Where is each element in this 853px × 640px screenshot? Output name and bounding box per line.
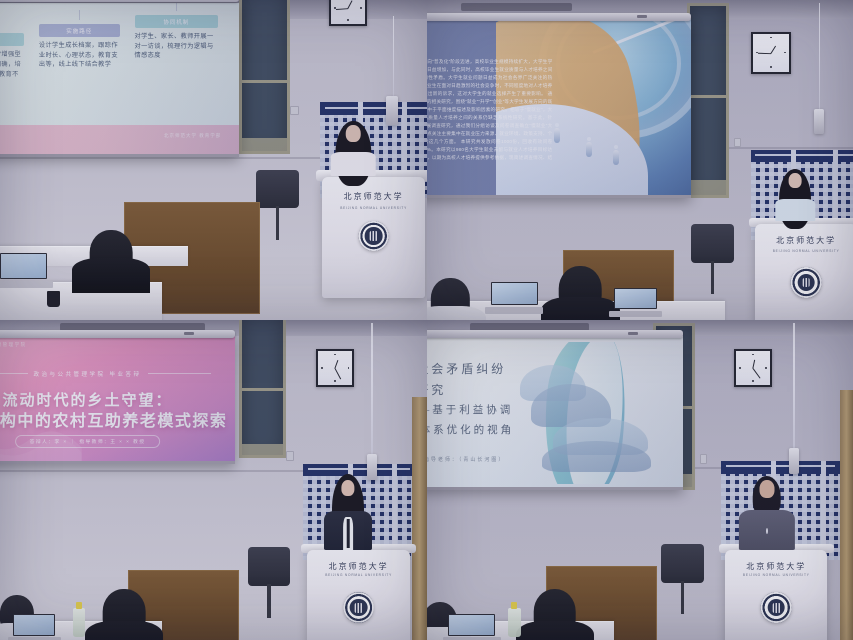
laptop[interactable]	[13, 614, 56, 640]
slide-title-line2: 治理研究	[427, 381, 446, 398]
wall-switch[interactable]	[286, 451, 294, 461]
slide-title-line3: ——基于利益协调	[427, 402, 513, 417]
projector-control-box[interactable]	[367, 454, 377, 480]
podium-label-en: BEIJING NORMAL UNIVERSITY	[307, 573, 409, 577]
door-frame	[840, 390, 853, 640]
slide-card-3: 协同机制 对学生、家长、教师开展一对一访谈，梳理行为逻辑与情感态度	[135, 15, 219, 61]
audience-member	[559, 266, 602, 317]
slide-eyebrow: 政治与公共管理学院 毕业答辩	[34, 370, 142, 378]
podium-label-en: BEIJING NORMAL UNIVERSITY	[755, 249, 853, 253]
panel-top-left[interactable]: 目标定位 推行广泛应用规模“增强型模式”，要求学生明确，培养及时，落实及，教育不…	[0, 0, 427, 320]
laptop[interactable]	[614, 288, 657, 317]
screen-housing	[427, 330, 683, 338]
cup	[47, 291, 60, 307]
slide-card-1: 目标定位 推行广泛应用规模“增强型模式”，要求学生明确，培养及时，落实及，教育不…	[0, 33, 24, 88]
laptop[interactable]	[491, 282, 538, 314]
screen-housing	[0, 330, 235, 338]
podium-label-cn: 北京师范大学	[322, 191, 424, 202]
wall-switch[interactable]	[734, 138, 742, 148]
projection-screen[interactable]: 农村社会矛盾纠纷 治理研究 ——基于利益协调 治理体系优化的视角 答辩人： 指导…	[427, 336, 683, 490]
slide-title-line1: 农村社会矛盾纠纷	[427, 360, 506, 377]
hanging-cable	[371, 323, 372, 457]
hanging-cable	[393, 16, 394, 99]
wall-clock	[329, 0, 367, 26]
projection-screen[interactable]: 北京师范大学 · 政府管理学院 政治与公共管理学院 毕业答辩 流动时代的乡土守望…	[0, 336, 235, 464]
water-bottle	[508, 608, 521, 637]
wall-clock	[751, 32, 791, 74]
presenter[interactable]	[755, 480, 778, 550]
laptop[interactable]	[448, 614, 495, 640]
podium-label-cn: 北京师范大学	[307, 561, 409, 572]
audience-member	[90, 230, 133, 275]
office-chair[interactable]	[661, 544, 704, 614]
slide-card-1-title: 目标定位	[0, 33, 24, 46]
slide-wave-decoration	[0, 419, 82, 462]
panel-bottom-left[interactable]: 北京师范大学 · 政府管理学院 政治与公共管理学院 毕业答辩 流动时代的乡土守望…	[0, 320, 427, 640]
wall-clock	[734, 349, 772, 387]
podium[interactable]: 北京师范大学 BEIJING NORMAL UNIVERSITY	[755, 218, 853, 320]
bnu-emblem-icon	[791, 267, 822, 298]
slide-ink-illustration	[512, 342, 682, 484]
projection-screen[interactable]: 引言 随着我国高等教育向“普及化”阶段迈进，高校毕业生规模持续扩大，大学生学术科…	[427, 19, 691, 198]
podium-label-en: BEIJING NORMAL UNIVERSITY	[725, 573, 827, 577]
slide-card-2: 实施路径 设计学生成长档案，跟踪作业时长、心理状态，教育支出等，线上线下结合教学	[39, 24, 120, 70]
audience-member	[102, 589, 145, 640]
presenter[interactable]	[785, 173, 806, 221]
wall-clock	[316, 349, 354, 387]
slide-eyebrow-rule: 政治与公共管理学院 毕业答辩	[0, 370, 211, 378]
podium[interactable]: 北京师范大学 BEIJING NORMAL UNIVERSITY	[725, 544, 827, 640]
audience-member	[431, 278, 469, 320]
slide-card-3-title: 协同机制	[135, 15, 219, 28]
ceiling-duct	[461, 3, 572, 11]
podium-label-cn: 北京师范大学	[725, 561, 827, 572]
presenter[interactable]	[342, 125, 365, 176]
wall-switch[interactable]	[290, 106, 299, 116]
slide-brandline: 北京师范大学 · 政府管理学院	[0, 342, 27, 348]
podium-label-cn: 北京师范大学	[755, 235, 853, 246]
laptop[interactable]	[0, 253, 47, 288]
classroom-blackboard	[687, 3, 730, 198]
projector-control-box[interactable]	[386, 96, 397, 125]
classroom-blackboard	[239, 320, 286, 458]
bnu-emblem-icon	[343, 592, 374, 623]
office-chair[interactable]	[248, 547, 291, 617]
hanging-cable	[819, 3, 820, 112]
bnu-emblem-icon	[358, 221, 389, 252]
audience-member	[534, 589, 577, 640]
slide-card-2-title: 实施路径	[39, 24, 120, 37]
photo-collage-grid: 目标定位 推行广泛应用规模“增强型模式”，要求学生明确，培养及时，落实及，教育不…	[0, 0, 853, 640]
wall-switch[interactable]	[700, 454, 708, 464]
screen-housing	[0, 0, 239, 2]
slide-paragraph: 随着我国高等教育向“普及化”阶段迈进，高校毕业生规模持续扩大，大学生学术科研及就…	[427, 58, 552, 170]
panel-bottom-right[interactable]: 农村社会矛盾纠纷 治理研究 ——基于利益协调 治理体系优化的视角 答辩人： 指导…	[427, 320, 853, 640]
office-chair[interactable]	[691, 224, 734, 294]
water-bottle	[73, 608, 86, 637]
hanging-cable	[793, 323, 794, 451]
slide-footer-note: 北京师范大学 教育学部	[164, 133, 221, 139]
podium-label-en: BEIJING NORMAL UNIVERSITY	[322, 206, 424, 210]
classroom-blackboard	[239, 0, 290, 154]
bnu-emblem-icon	[761, 592, 792, 623]
panel-top-right[interactable]: 引言 随着我国高等教育向“普及化”阶段迈进，高校毕业生规模持续扩大，大学生学术科…	[427, 0, 853, 320]
projector-control-box[interactable]	[789, 448, 799, 474]
projector-control-box[interactable]	[814, 109, 824, 135]
screen-housing	[427, 13, 691, 21]
slide-card-3-body: 对学生、家长、教师开展一对一访谈，梳理行为逻辑与情感态度	[135, 32, 219, 61]
slide-card-2-body: 设计学生成长档案，跟踪作业时长、心理状态，教育支出等，线上线下结合教学	[39, 41, 120, 70]
presenter[interactable]	[337, 480, 358, 550]
slide-title-line4: 治理体系优化的视角	[427, 422, 514, 437]
slide-footer-band: 北京师范大学 教育学部	[0, 125, 239, 154]
door-frame	[412, 397, 427, 640]
slide-card-1-body: 推行广泛应用规模“增强型模式”，要求学生明确，培养及时，落实及，教育不足	[0, 50, 24, 88]
projection-screen[interactable]: 目标定位 推行广泛应用规模“增强型模式”，要求学生明确，培养及时，落实及，教育不…	[0, 3, 239, 157]
podium[interactable]: 北京师范大学 BEIJING NORMAL UNIVERSITY	[307, 544, 409, 640]
podium[interactable]: 北京师范大学 BEIJING NORMAL UNIVERSITY	[322, 170, 424, 298]
slide-signature: 答辩人： 指导老师：（青山长河图）	[427, 456, 505, 463]
office-chair[interactable]	[256, 170, 299, 240]
